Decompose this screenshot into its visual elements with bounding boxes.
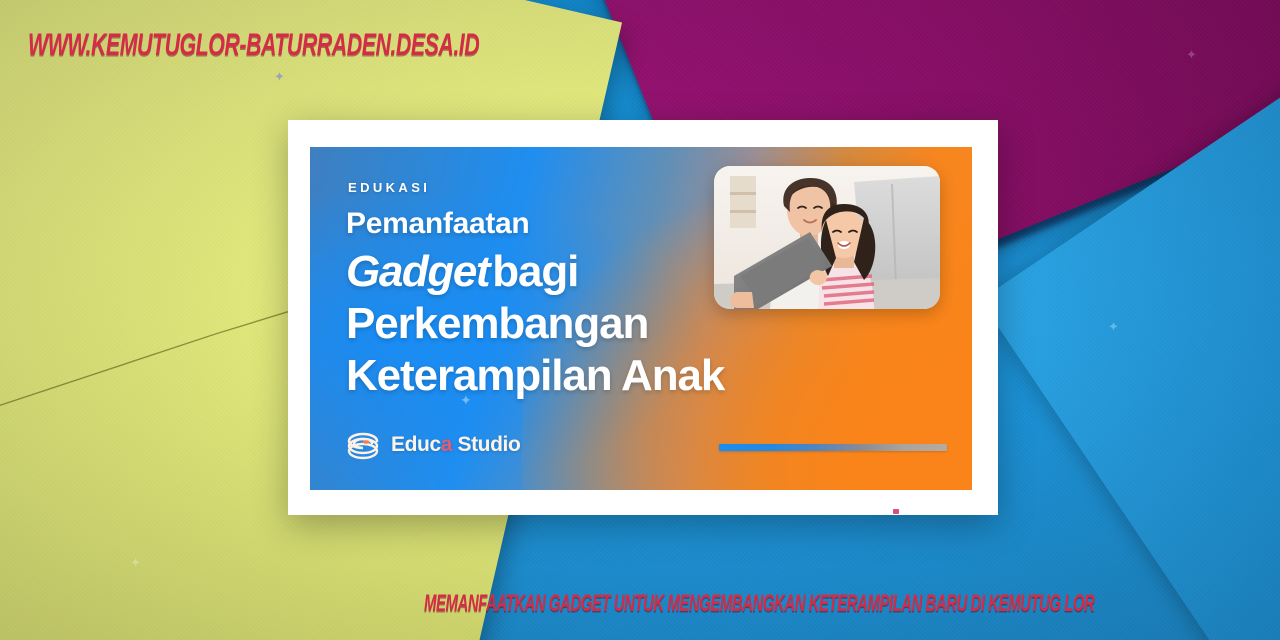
swirl-stack-icon — [346, 430, 380, 460]
brand-name-part2: Studio — [452, 433, 520, 456]
watermark-site-url: WWW.KEMUTUGLOR-BATURRADEN.DESA.ID — [28, 28, 479, 64]
headline-line-4: Keterampilan Anak — [346, 354, 866, 398]
watermark-article-title: MEMANFAATKAN GADGET UNTUK MENGEMBANGKAN … — [424, 590, 1094, 618]
progress-bar — [719, 444, 947, 451]
brand-logo: Educa Studio — [346, 430, 520, 460]
brand-name-accent: a — [441, 433, 452, 456]
sparkle-star-icon: ✦ — [274, 70, 285, 83]
banner-eyebrow-label: EDUKASI — [348, 180, 430, 195]
sparkle-star-icon: ✦ — [130, 556, 141, 569]
brand-name: Educa Studio — [391, 433, 520, 457]
sparkle-star-icon: ✦ — [1186, 48, 1197, 61]
photo-mother-and-child — [714, 166, 940, 309]
promo-banner: ✦ ✦ EDUKASI Pemanfaatan Gadgetbagi Perke… — [310, 147, 972, 490]
screenshot-stage: ✦ ✦ ✦ ✦ ✦ WWW.KEMUTUGLOR-BATURRADEN.DESA… — [0, 0, 1280, 640]
card-frame: ✦ ✦ EDUKASI Pemanfaatan Gadgetbagi Perke… — [288, 120, 998, 515]
brand-name-part1: Educ — [391, 433, 441, 456]
headline-emphasis-word: Gadget — [346, 247, 489, 296]
frame-speck — [893, 509, 899, 514]
sparkle-star-icon: ✦ — [1108, 320, 1119, 333]
headline-line-2-rest: bagi — [492, 247, 578, 296]
